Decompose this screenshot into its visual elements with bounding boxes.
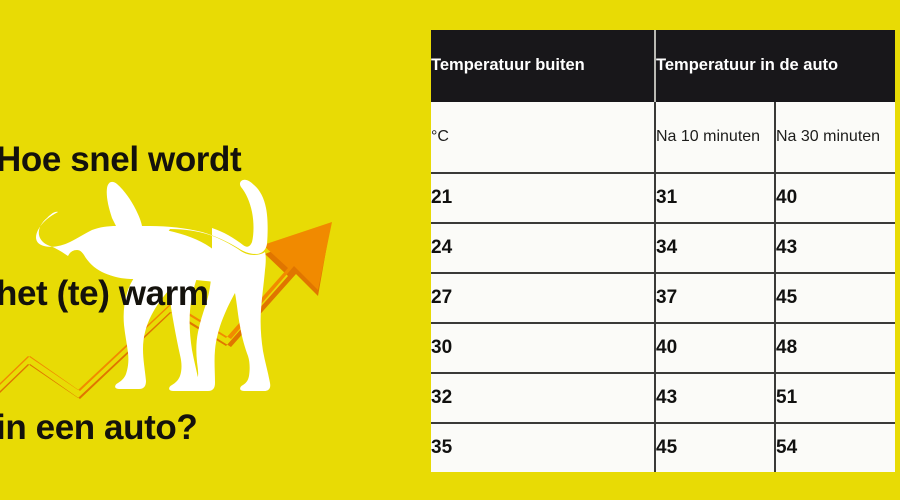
temperature-table: Temperatuur buiten Temperatuur in de aut… [431,30,895,472]
cell-outside-temperature: 24 [431,223,655,273]
cell-outside-temperature: 30 [431,323,655,373]
cell-after-10-minutes: 31 [655,173,775,223]
table-row: 27 37 45 [431,273,895,323]
table-subheader-row: °C Na 10 minuten Na 30 minuten [431,102,895,173]
cell-after-30-minutes: 54 [775,423,895,472]
table-header-row: Temperatuur buiten Temperatuur in de aut… [431,30,895,102]
table-row: 21 31 40 [431,173,895,223]
headline-line-1: Hoe snel wordt [0,138,416,183]
header-outside-temperature: Temperatuur buiten [431,30,655,102]
cell-after-10-minutes: 40 [655,323,775,373]
cell-after-30-minutes: 43 [775,223,895,273]
infographic-poster: Hoe snel wordt het (te) warm in een auto… [0,0,900,500]
cell-after-10-minutes: 34 [655,223,775,273]
table-row: 24 34 43 [431,223,895,273]
header-inside-temperature: Temperatuur in de auto [655,30,895,102]
cell-after-10-minutes: 37 [655,273,775,323]
cell-outside-temperature: 35 [431,423,655,472]
table-row: 35 45 54 [431,423,895,472]
cell-outside-temperature: 27 [431,273,655,323]
headline-line-3: in een auto? [0,406,416,451]
cell-outside-temperature: 21 [431,173,655,223]
cell-after-10-minutes: 45 [655,423,775,472]
subheader-after-10-minutes: Na 10 minuten [655,102,775,173]
subheader-unit-celsius: °C [431,102,655,173]
table-row: 30 40 48 [431,323,895,373]
cell-after-10-minutes: 43 [655,373,775,423]
cell-outside-temperature: 32 [431,373,655,423]
table-body: 21 31 40 24 34 43 27 37 45 30 40 48 32 4 [431,173,895,472]
cell-after-30-minutes: 40 [775,173,895,223]
subheader-after-30-minutes: Na 30 minuten [775,102,895,173]
cell-after-30-minutes: 48 [775,323,895,373]
cell-after-30-minutes: 45 [775,273,895,323]
table-row: 32 43 51 [431,373,895,423]
headline-line-2: het (te) warm [0,272,416,317]
cell-after-30-minutes: 51 [775,373,895,423]
page-title: Hoe snel wordt het (te) warm in een auto… [0,48,416,500]
